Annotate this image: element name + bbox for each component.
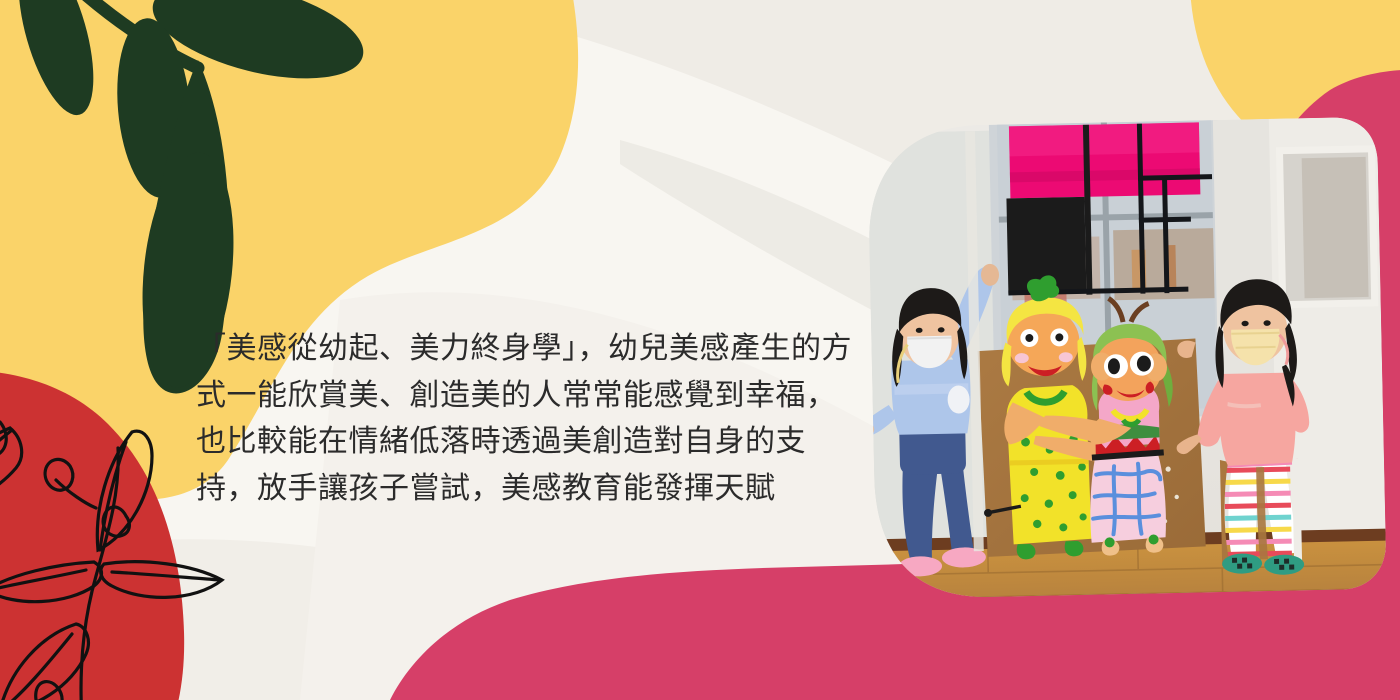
body-paragraph: 「美感從幼起、美力終身學」，幼兒美感產生的方式一能欣賞美、創造美的人常常能感覺到…: [196, 326, 856, 512]
photo-card: [861, 113, 1391, 624]
photo-scene: [861, 113, 1391, 624]
slide-canvas: 「美感從幼起、美力終身學」，幼兒美感產生的方式一能欣賞美、創造美的人常常能感覺到…: [0, 0, 1400, 700]
